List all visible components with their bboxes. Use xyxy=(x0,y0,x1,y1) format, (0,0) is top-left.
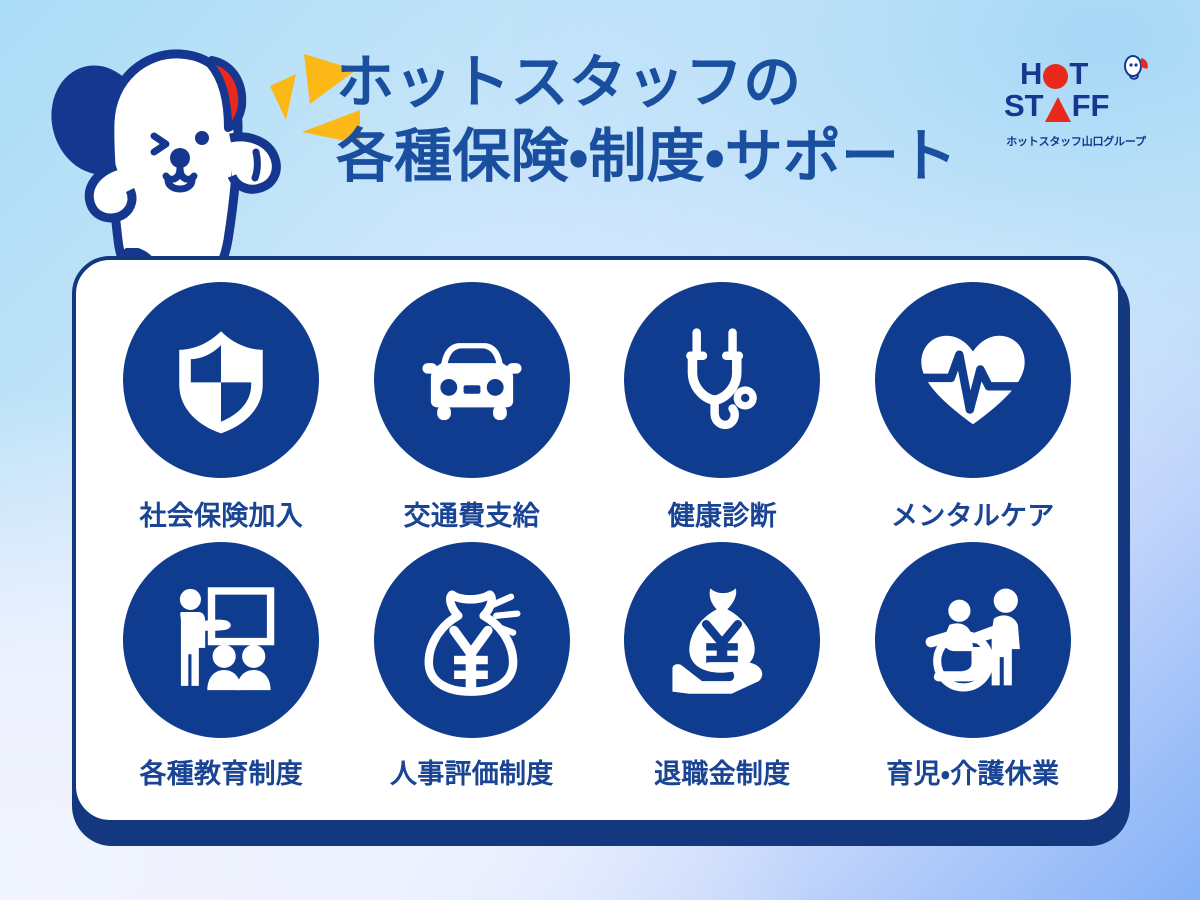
poster-canvas: ホットスタッフの 各種保険・制度・サポート H T ST FF xyxy=(0,0,1200,900)
benefit-label: 育児・介護休業 xyxy=(886,752,1059,791)
benefit-icon-disc xyxy=(624,282,820,478)
benefit-item-social-insurance[interactable]: 社会保険加入 xyxy=(96,282,347,542)
benefit-label: メンタルケア xyxy=(891,494,1055,533)
benefit-label: 健康診断 xyxy=(668,494,777,533)
money-bag-yen-icon xyxy=(414,582,530,698)
benefit-item-hr-evaluation[interactable]: 人事評価制度 xyxy=(347,542,598,802)
benefit-icon-disc xyxy=(875,282,1071,478)
benefit-item-mental-care[interactable]: メンタルケア xyxy=(848,282,1099,542)
car-front-icon xyxy=(414,322,530,438)
hot-staff-logo[interactable]: H T ST FF xyxy=(1000,58,1152,150)
benefit-label: 交通費支給 xyxy=(404,494,540,533)
benefit-icon-disc xyxy=(374,282,570,478)
logo-text-st: ST xyxy=(1004,90,1044,121)
benefit-label: 人事評価制度 xyxy=(390,752,554,791)
logo-text-ff: FF xyxy=(1072,90,1110,121)
logo-text-h: H xyxy=(1020,58,1042,89)
benefit-item-transportation-allowance[interactable]: 交通費支給 xyxy=(347,282,598,542)
logo-text-t: T xyxy=(1069,58,1088,89)
logo-red-triangle-a xyxy=(1045,97,1071,122)
logo-red-circle-o xyxy=(1043,64,1068,89)
page-title: ホットスタッフの 各種保険・制度・サポート xyxy=(336,54,1016,186)
benefit-item-health-checkup[interactable]: 健康診断 xyxy=(597,282,848,542)
heart-pulse-icon xyxy=(915,322,1031,438)
logo-wordmark: H T ST FF xyxy=(1000,58,1152,130)
teacher-whiteboard-icon xyxy=(163,582,279,698)
logo-line-staff: ST FF xyxy=(1004,90,1152,121)
benefit-icon-disc xyxy=(875,542,1071,738)
benefits-grid: 社会保険加入 xyxy=(76,260,1118,820)
benefit-icon-disc xyxy=(123,542,319,738)
benefit-label: 各種教育制度 xyxy=(139,752,303,791)
page-title-line1: ホットスタッフの xyxy=(336,54,1016,112)
benefit-label: 退職金制度 xyxy=(654,752,790,791)
benefit-icon-disc xyxy=(374,542,570,738)
benefit-label: 社会保険加入 xyxy=(139,494,303,533)
page-title-line2: 各種保険・制度・サポート xyxy=(336,128,1016,186)
shield-icon xyxy=(163,322,279,438)
benefits-card: 社会保険加入 xyxy=(72,256,1130,846)
stethoscope-icon xyxy=(664,322,780,438)
logo-dog-icon xyxy=(1122,54,1156,88)
hand-holding-money-bag-icon xyxy=(664,582,780,698)
benefit-icon-disc xyxy=(123,282,319,478)
card-surface: 社会保険加入 xyxy=(72,256,1122,824)
logo-subtitle: ホットスタッフ山口グループ xyxy=(1000,133,1152,149)
benefit-icon-disc xyxy=(624,542,820,738)
benefit-item-childcare-nursing-leave[interactable]: 育児・介護休業 xyxy=(848,542,1099,802)
benefit-item-education-programs[interactable]: 各種教育制度 xyxy=(96,542,347,802)
wheelchair-care-icon xyxy=(915,582,1031,698)
benefit-item-retirement-allowance[interactable]: 退職金制度 xyxy=(597,542,848,802)
header: ホットスタッフの 各種保険・制度・サポート H T ST FF xyxy=(0,0,1200,262)
